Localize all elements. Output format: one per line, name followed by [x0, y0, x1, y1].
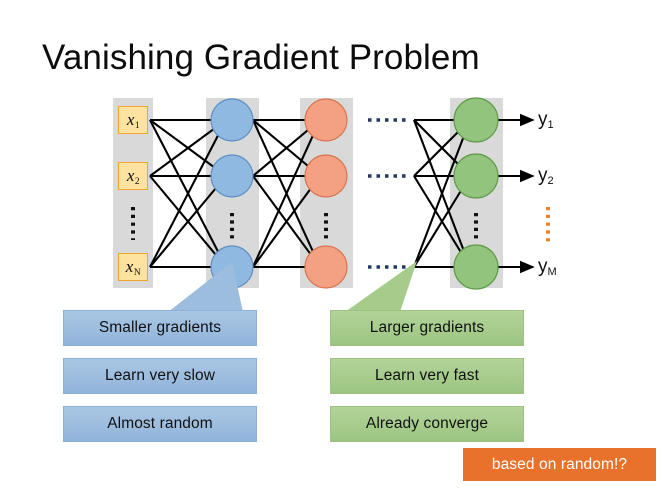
annotation-almost-random[interactable]: Almost random — [63, 406, 257, 442]
input-node-x1: x1 — [118, 106, 148, 134]
skipped-layers-dots — [368, 120, 410, 267]
output-node-y2: y2 — [538, 166, 554, 185]
output-node-y1: y1 — [538, 110, 554, 129]
annotation-smaller-gradients[interactable]: Smaller gradients — [63, 310, 257, 346]
annotation-larger-gradients-label: Larger gradients — [370, 319, 484, 337]
annotation-based-on-random[interactable]: based on random!? — [463, 448, 656, 481]
input-node-x2-label: x2 — [127, 167, 139, 185]
annotation-smaller-gradients-label: Smaller gradients — [99, 319, 221, 337]
annotation-larger-gradients[interactable]: Larger gradients — [330, 310, 524, 346]
input-node-x1-label: x1 — [127, 111, 139, 129]
annotation-learn-very-fast[interactable]: Learn very fast — [330, 358, 524, 394]
annotation-learn-very-slow-label: Learn very slow — [105, 367, 215, 385]
annotation-already-converge[interactable]: Already converge — [330, 406, 524, 442]
input-node-x2: x2 — [118, 162, 148, 190]
output-node-yM: yM — [538, 257, 557, 276]
annotation-learn-very-slow[interactable]: Learn very slow — [63, 358, 257, 394]
input-node-xN-label: xN — [126, 258, 140, 276]
annotation-almost-random-label: Almost random — [107, 415, 213, 433]
annotation-based-on-random-label: based on random!? — [492, 456, 627, 474]
slide-canvas: Vanishing Gradient Problem — [0, 0, 663, 489]
annotation-learn-very-fast-label: Learn very fast — [375, 367, 479, 385]
input-node-xN: xN — [118, 253, 148, 281]
annotation-already-converge-label: Already converge — [366, 415, 488, 433]
